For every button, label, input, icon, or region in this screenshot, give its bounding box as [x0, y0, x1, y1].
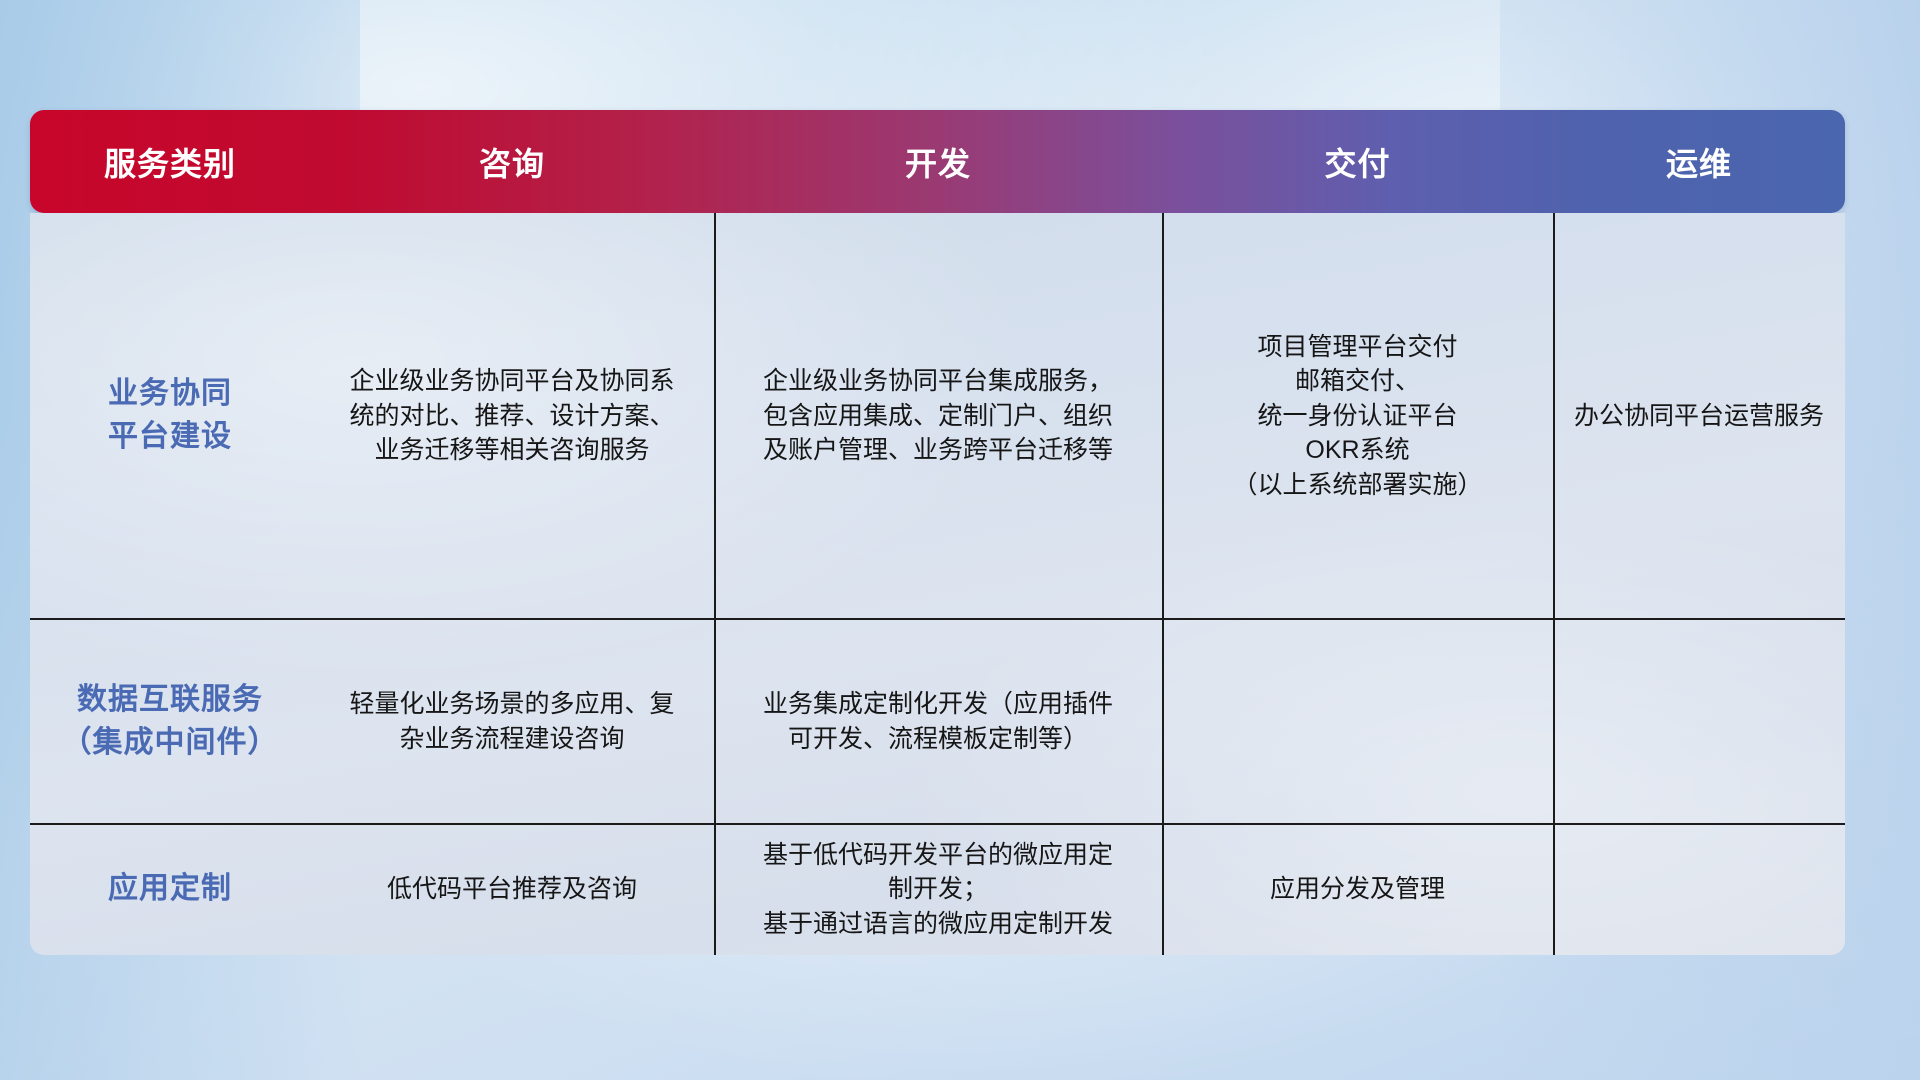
- table-row: 业务协同 平台建设 企业级业务协同平台及协同系 统的对比、推荐、设计方案、 业务…: [30, 213, 1845, 619]
- cell-development: 企业级业务协同平台集成服务， 包含应用集成、定制门户、组织 及账户管理、业务跨平…: [714, 364, 1162, 468]
- column-header-delivery: 交付: [1162, 139, 1553, 185]
- cell-operations: 办公协同平台运营服务: [1553, 399, 1845, 434]
- column-header-consulting: 咨询: [310, 139, 714, 185]
- column-header-operations: 运维: [1553, 139, 1845, 185]
- cell-category: 应用定制: [30, 868, 310, 911]
- table-row: 应用定制 低代码平台推荐及咨询 基于低代码开发平台的微应用定 制开发； 基于通过…: [30, 824, 1845, 955]
- table-body: 业务协同 平台建设 企业级业务协同平台及协同系 统的对比、推荐、设计方案、 业务…: [30, 213, 1845, 955]
- cell-category: 业务协同 平台建设: [30, 373, 310, 458]
- cell-development: 业务集成定制化开发（应用插件 可开发、流程模板定制等）: [714, 687, 1162, 756]
- table-header-row: 服务类别 咨询 开发 交付 运维: [30, 110, 1845, 213]
- table-row: 数据互联服务 （集成中间件） 轻量化业务场景的多应用、复 杂业务流程建设咨询 业…: [30, 619, 1845, 824]
- cell-delivery: 项目管理平台交付 邮箱交付、 统一身份认证平台 OKR系统 （以上系统部署实施）: [1162, 330, 1553, 503]
- service-matrix-table: 服务类别 咨询 开发 交付 运维 业务协同 平台建设 企业级业务协同平台及协同系…: [30, 110, 1845, 955]
- cell-consulting: 轻量化业务场景的多应用、复 杂业务流程建设咨询: [310, 687, 714, 756]
- cell-consulting: 企业级业务协同平台及协同系 统的对比、推荐、设计方案、 业务迁移等相关咨询服务: [310, 364, 714, 468]
- cell-consulting: 低代码平台推荐及咨询: [310, 872, 714, 907]
- cell-delivery: 应用分发及管理: [1162, 872, 1553, 907]
- column-header-category: 服务类别: [30, 139, 310, 185]
- column-header-development: 开发: [714, 139, 1162, 185]
- cell-development: 基于低代码开发平台的微应用定 制开发； 基于通过语言的微应用定制开发: [714, 838, 1162, 942]
- cell-category: 数据互联服务 （集成中间件）: [30, 679, 310, 764]
